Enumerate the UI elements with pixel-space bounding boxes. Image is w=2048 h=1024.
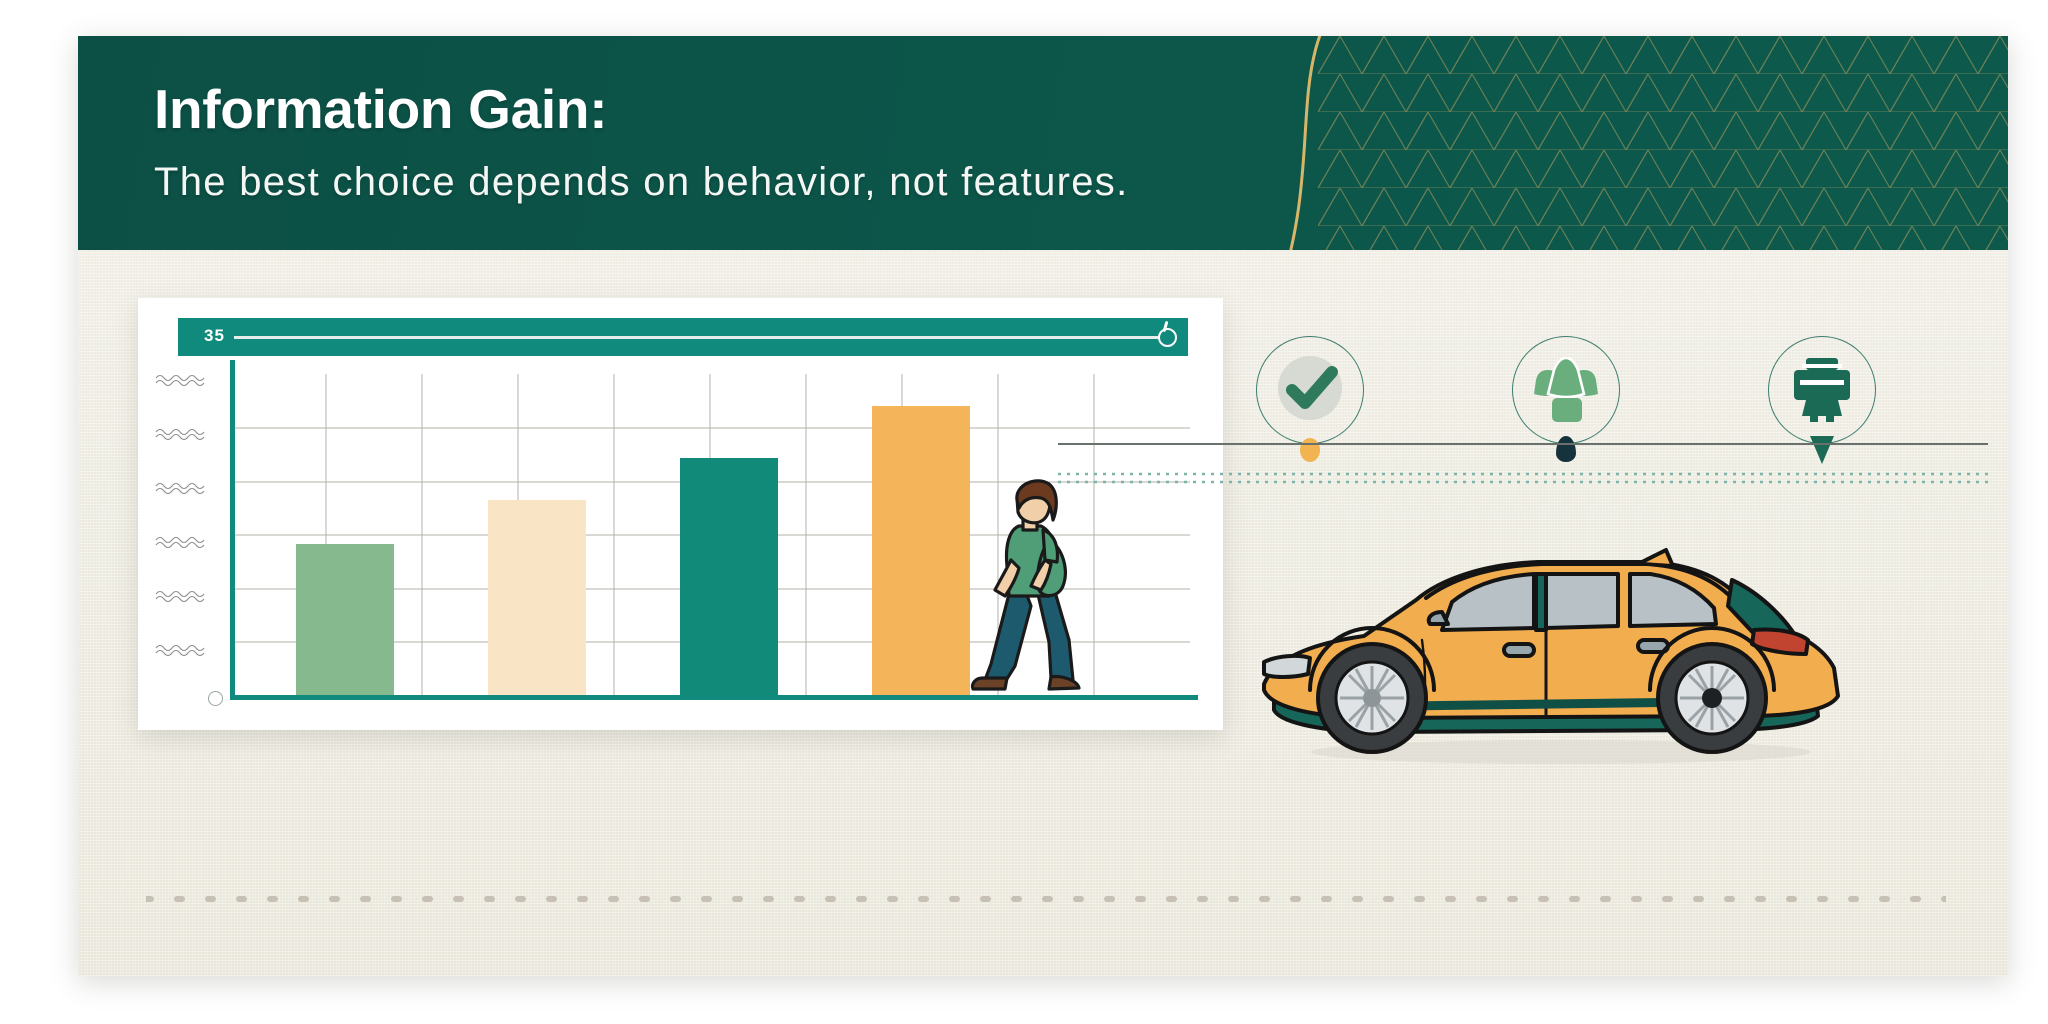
toolbar-value-label: 35 [204,326,225,346]
slider-handle[interactable] [1158,328,1177,347]
bar-1 [488,500,586,696]
y-axis-tick-labels [152,358,222,696]
plot-area [230,374,1190,696]
badge-ring [1512,336,1620,444]
bar-3 [872,406,970,696]
x-axis-line [230,695,1198,700]
front-wheel [1318,644,1426,752]
y-axis-line [230,360,235,696]
horizon-line [1058,443,1988,445]
dotted-rule [1058,470,1988,486]
badge-check[interactable] [1256,336,1364,444]
chart-panel: 35 [138,298,1223,730]
badge-machine[interactable] [1768,336,1876,444]
slide-card: Information Gain: The best choice depend… [78,36,2008,976]
badge-ring [1256,336,1364,444]
header-band: Information Gain: The best choice depend… [78,36,2008,250]
badge-ring [1768,336,1876,444]
badge-marker-dot [1300,438,1320,462]
suv-illustration [1246,520,1866,770]
bar-2 [680,458,778,696]
rear-wheel [1658,644,1766,752]
right-rail [1238,298,1978,858]
bottom-dotted-rule [146,894,1946,904]
walking-person-illustration [965,474,1097,694]
bar-0 [296,544,394,696]
badge-cluster[interactable] [1512,336,1620,444]
page-title: Information Gain: [154,82,1454,137]
badge-marker-pin [1810,436,1834,464]
chart-toolbar[interactable]: 35 [178,318,1188,356]
page-subtitle: The best choice depends on behavior, not… [154,159,1454,205]
badge-marker-drop [1556,436,1576,462]
header-text-block: Information Gain: The best choice depend… [154,82,1454,205]
slide-canvas: Information Gain: The best choice depend… [0,0,2048,1024]
slider-track[interactable] [234,336,1174,339]
